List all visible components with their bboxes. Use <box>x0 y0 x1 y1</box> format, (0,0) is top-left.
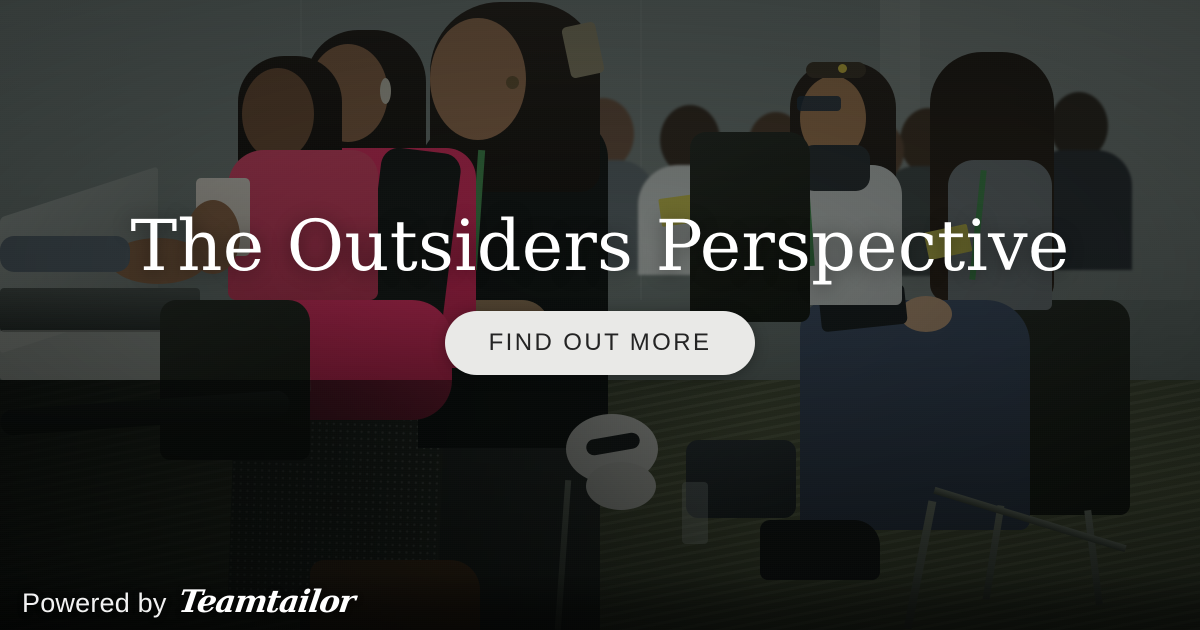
page-title: The Outsiders Perspective <box>131 211 1070 281</box>
find-out-more-button[interactable]: FIND OUT MORE <box>445 311 756 375</box>
hero-content: The Outsiders Perspective FIND OUT MORE <box>0 0 1200 630</box>
powered-by-label: Powered by <box>22 588 167 619</box>
powered-by-footer: Powered by Teamtailor <box>22 584 354 620</box>
teamtailor-logo[interactable]: Teamtailor <box>176 584 356 620</box>
hero-banner: The Outsiders Perspective FIND OUT MORE … <box>0 0 1200 630</box>
